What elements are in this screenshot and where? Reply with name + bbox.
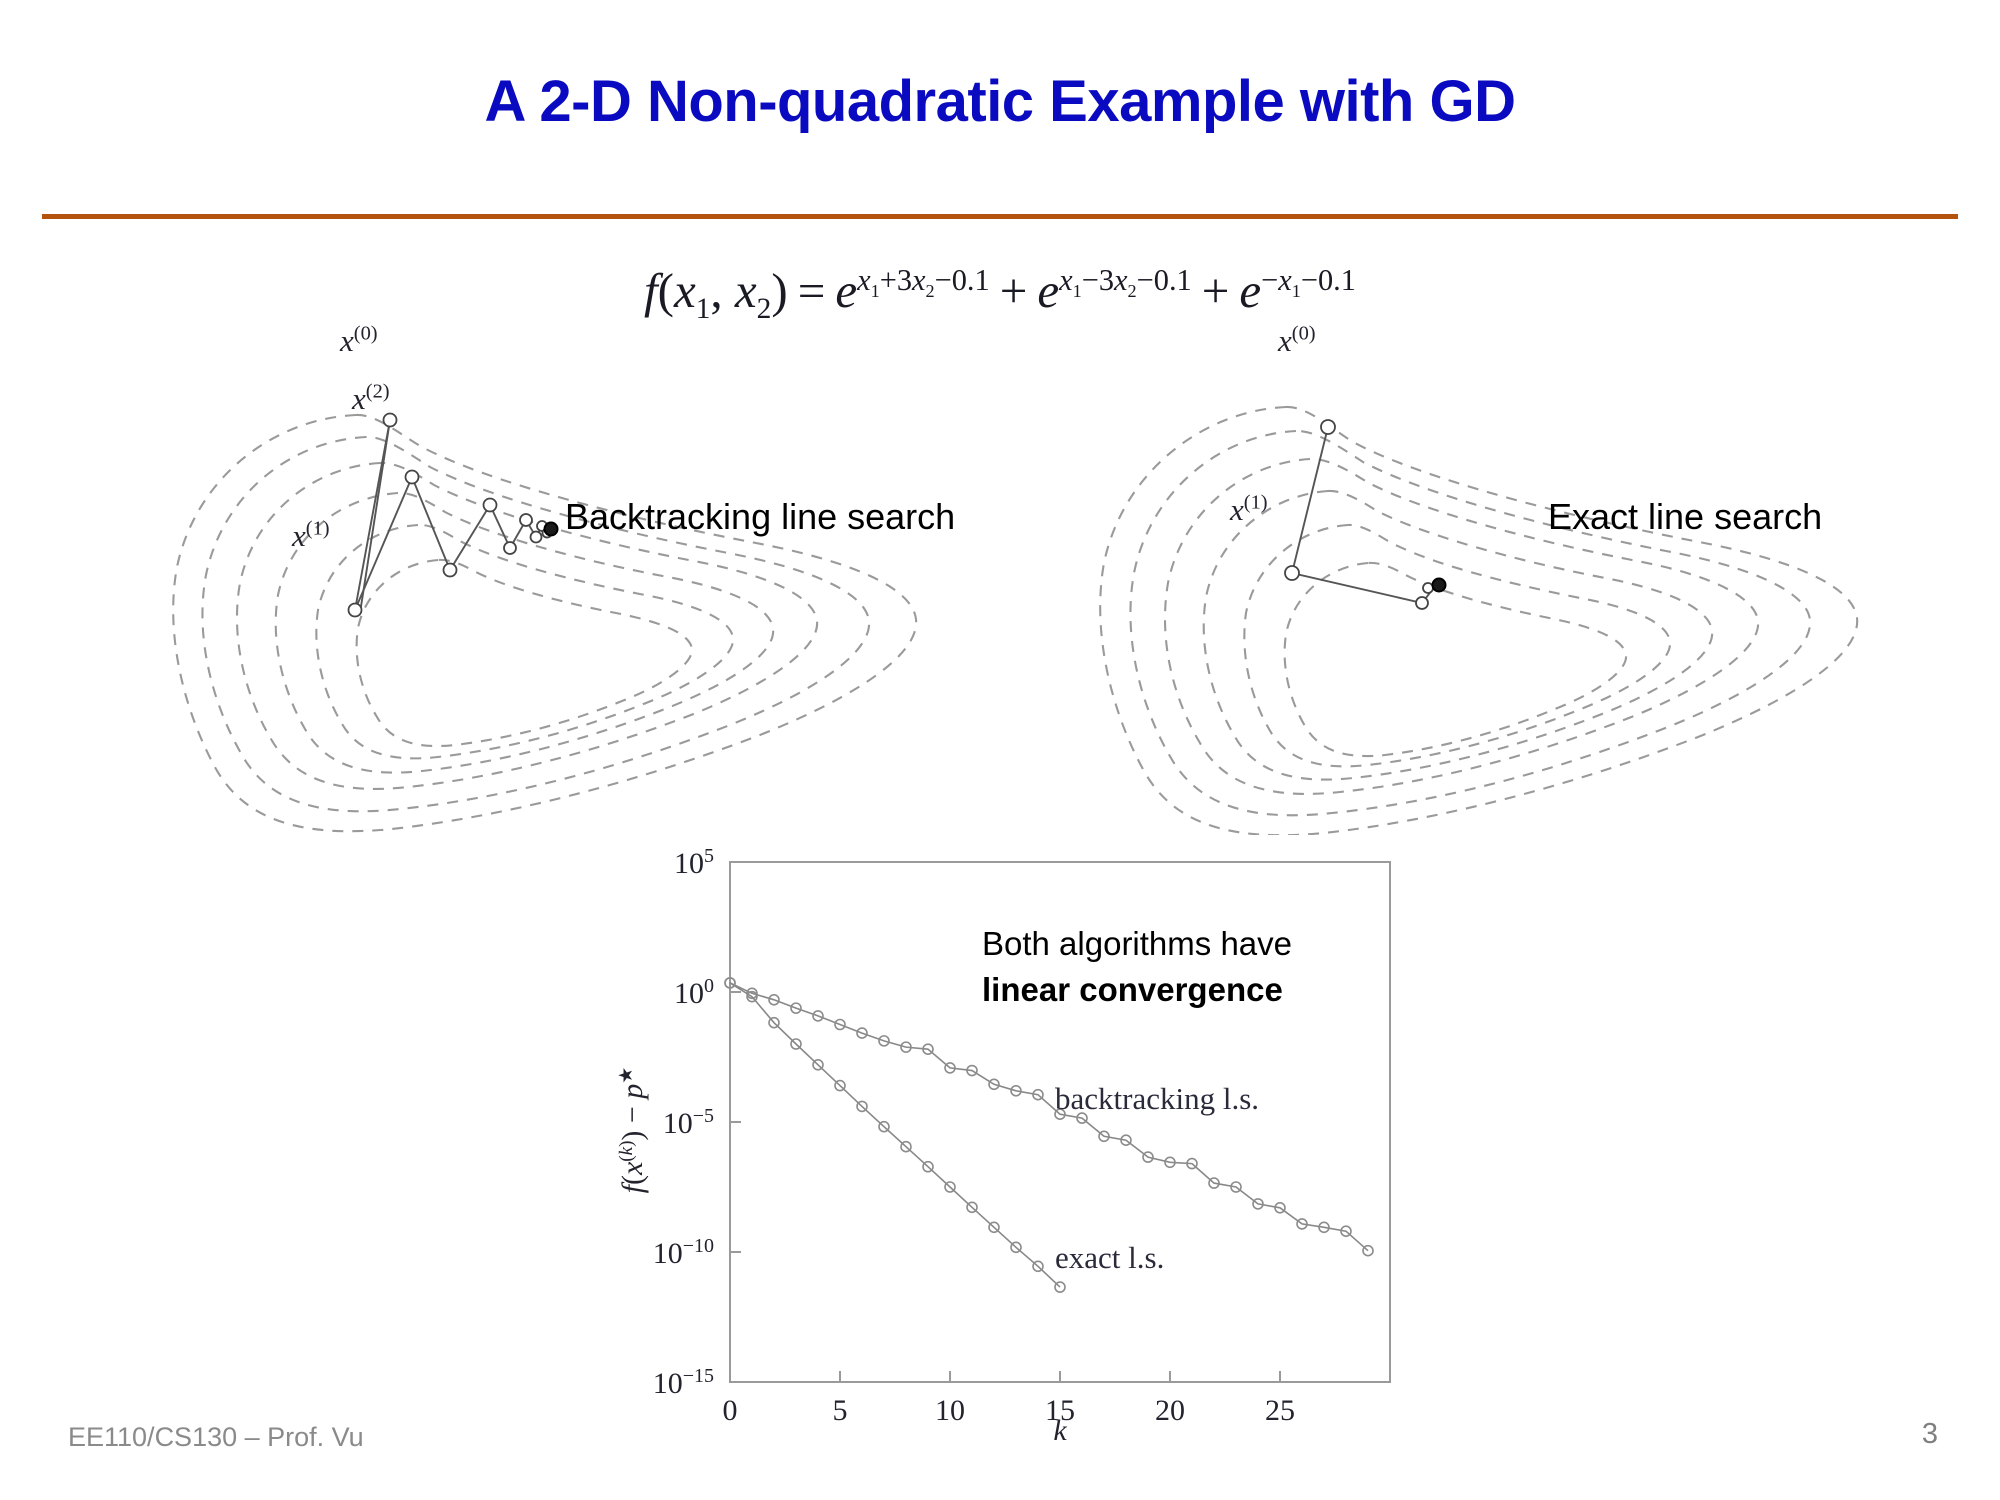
title-divider xyxy=(42,214,1958,219)
iterate-label-x0-backtracking: x(0) xyxy=(340,323,378,359)
formula-plus-2: + xyxy=(1192,263,1240,318)
convergence-chart: 10510010−510−1010−15 0510152025 k f(x(k)… xyxy=(600,840,1430,1460)
formula-f: f xyxy=(644,263,658,318)
formula-paren-open: ( xyxy=(658,263,674,318)
y-tick-label: 105 xyxy=(674,845,714,880)
y-tick-label: 10−10 xyxy=(653,1235,714,1270)
x-axis-title: k xyxy=(1053,1414,1067,1447)
optimum-marker-backtracking xyxy=(545,523,558,536)
x-tick-label: 0 xyxy=(723,1394,738,1427)
iterate-label-x2-backtracking: x(2) xyxy=(352,381,390,417)
x-tick-label: 25 xyxy=(1265,1394,1295,1427)
y-axis-tick-labels: 10510010−510−1010−15 xyxy=(653,845,714,1400)
formula-e2: e xyxy=(1037,263,1059,318)
iterate-path-exact xyxy=(1292,427,1436,603)
formula-x1: x xyxy=(674,263,696,318)
formula-e1: e xyxy=(835,263,857,318)
contour-plot-backtracking: x(0) x(2) x(1) xyxy=(160,385,1080,835)
footer-page-number: 3 xyxy=(1922,1418,1938,1451)
chart-series xyxy=(725,978,1065,1292)
formula-equals: = xyxy=(788,263,836,318)
formula-x2: x xyxy=(735,263,757,318)
y-tick-label: 10−15 xyxy=(653,1365,714,1400)
contour-svg-exact xyxy=(1070,385,1990,835)
series-label-exact: exact l.s. xyxy=(1055,1240,1164,1276)
contour-svg-backtracking xyxy=(160,385,1080,835)
chart-series xyxy=(725,978,1373,1256)
iterate-label-x1-backtracking: x(1) xyxy=(292,518,330,554)
y-axis-title: f(x(k)) − p★ xyxy=(616,1067,650,1194)
objective-function-formula: f(x1, x2)=ex1+3x2−0.1+ex1−3x2−0.1+e−x1−0… xyxy=(0,262,2000,319)
x-tick-label: 10 xyxy=(935,1394,965,1427)
optimum-marker-exact xyxy=(1433,579,1446,592)
iterate-label-x1-exact: x(1) xyxy=(1230,492,1268,528)
x-axis-tick-labels: 0510152025 xyxy=(723,1394,1296,1427)
formula-paren-close: ) xyxy=(771,263,787,318)
series-line xyxy=(730,983,1060,1287)
contour-lines-backtracking xyxy=(173,415,916,831)
x-tick-label: 20 xyxy=(1155,1394,1185,1427)
caption-backtracking-line-search: Backtracking line search xyxy=(565,496,955,538)
contour-plot-exact: x(0) x(1) xyxy=(1070,385,1990,835)
iterate-label-x0-exact: x(0) xyxy=(1278,323,1316,359)
svg-text:f(x(k)) − p★: f(x(k)) − p★ xyxy=(616,1067,650,1194)
formula-plus-1: + xyxy=(990,263,1038,318)
series-label-backtracking: backtracking l.s. xyxy=(1055,1081,1259,1117)
y-axis-ticks xyxy=(730,862,741,1382)
contour-lines-exact xyxy=(1100,407,1857,835)
chart-series-layer xyxy=(725,978,1373,1292)
formula-e3: e xyxy=(1239,263,1261,318)
caption-exact-line-search: Exact line search xyxy=(1548,496,1822,538)
y-tick-label: 100 xyxy=(674,975,714,1010)
footer-course-label: EE110/CS130 – Prof. Vu xyxy=(68,1422,364,1453)
x-axis-ticks xyxy=(730,1371,1280,1382)
series-line xyxy=(730,983,1368,1251)
y-tick-label: 10−5 xyxy=(663,1105,714,1140)
annotation-line-2: linear convergence xyxy=(982,971,1283,1009)
page-title: A 2-D Non-quadratic Example with GD xyxy=(0,68,2000,135)
x-tick-label: 5 xyxy=(833,1394,848,1427)
formula-comma: , xyxy=(710,263,735,318)
annotation-line-1: Both algorithms have xyxy=(982,925,1292,963)
